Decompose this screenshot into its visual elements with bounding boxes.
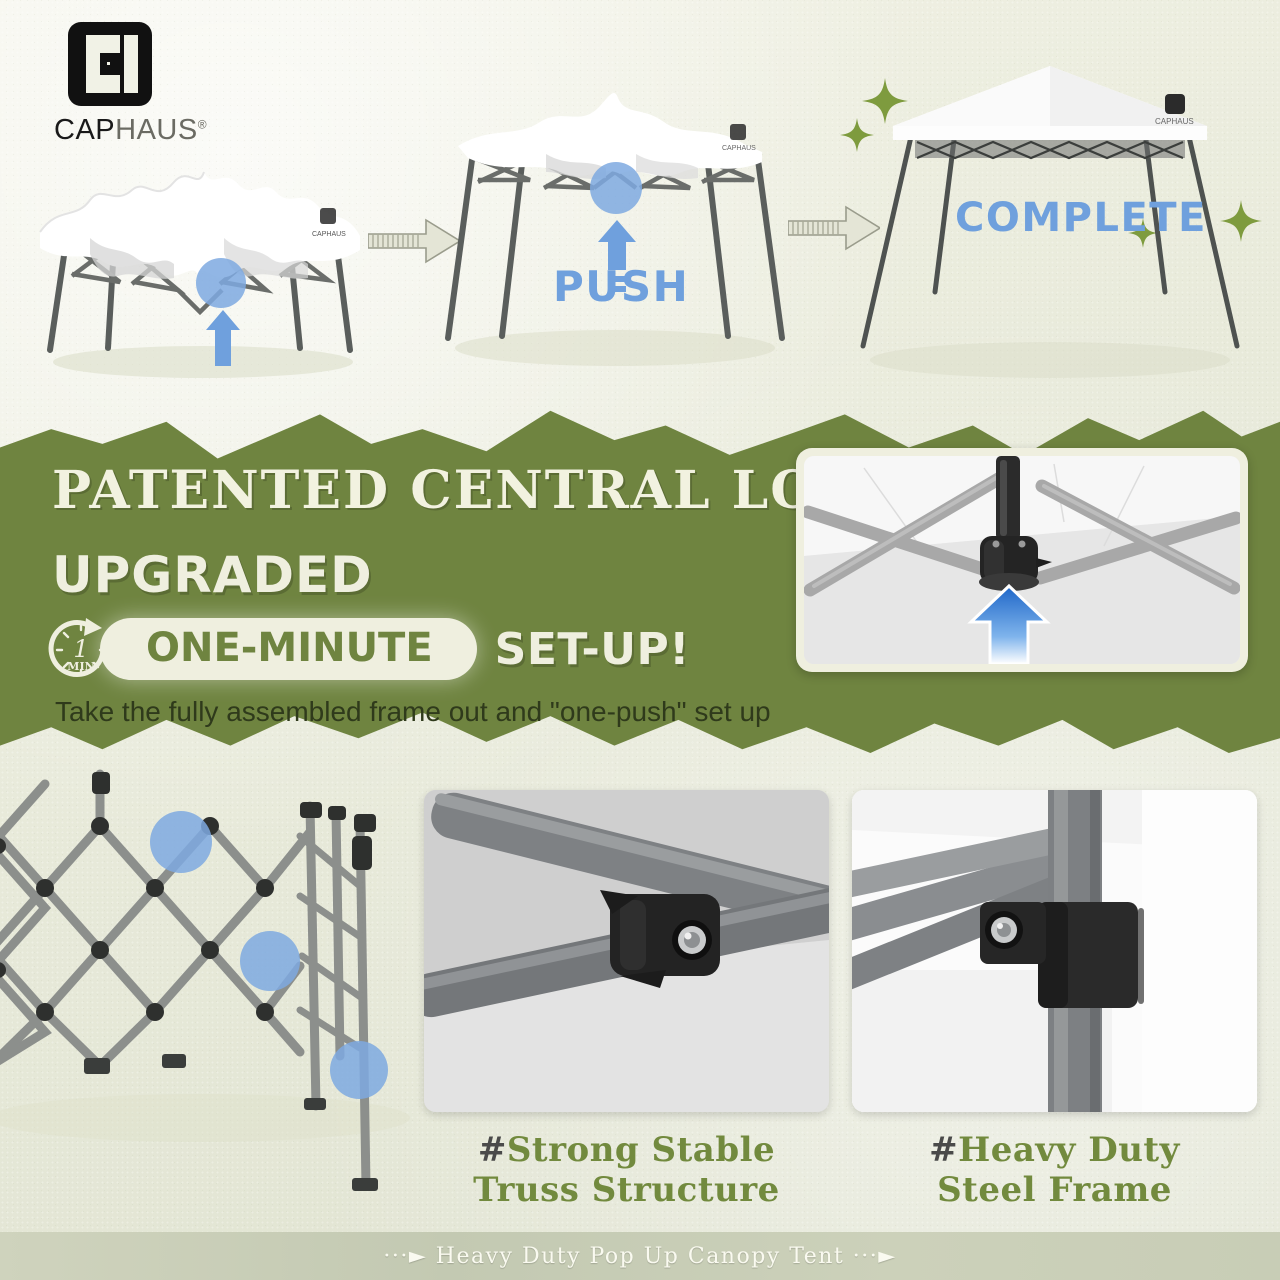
blue-up-arrow-icon [206, 310, 240, 366]
svg-text:CAPHAUS: CAPHAUS [312, 231, 346, 238]
brand-name-part2: HAUS [115, 114, 198, 146]
footer-text: ···► Heavy Duty Pop Up Canopy Tent ···► [383, 1244, 896, 1269]
infographic-page: CAPHAUS® [0, 0, 1280, 1280]
banner-upgraded-label: UPGRADED [52, 546, 373, 604]
clock-number: 1 [73, 635, 88, 663]
svg-text:CAPHAUS: CAPHAUS [722, 145, 756, 152]
feature-caption-steel: #Heavy Duty Steel Frame [852, 1130, 1257, 1210]
banner-subnote: Take the fully assembled frame out and "… [55, 696, 771, 728]
joint-highlight [150, 811, 212, 873]
brand-name-part1: CAP [54, 114, 115, 146]
step-folded-image: CAPHAUS [28, 150, 368, 380]
registered-mark: ® [198, 117, 207, 131]
banner-headline: PATENTED CENTRAL LOCK [52, 460, 908, 521]
joint-highlight [330, 1041, 388, 1099]
central-lock-photo-card [796, 448, 1248, 672]
top-sequence-section: CAPHAUS® [0, 0, 1280, 410]
hash-symbol: # [929, 1130, 958, 1170]
one-minute-row: 1 MIN ONE-MINUTE SET-UP! [46, 614, 690, 684]
one-minute-pill: ONE-MINUTE [100, 618, 477, 680]
clock-unit: MIN [67, 660, 94, 673]
steel-frame-photo [852, 790, 1257, 1112]
step-push-image: CAPHAUS [430, 80, 800, 370]
caphaus-logo-icon [68, 22, 152, 106]
push-label: PUSH [553, 262, 689, 311]
brand-name: CAPHAUS® [54, 114, 244, 147]
truss-frame-diagram [0, 766, 410, 1216]
central-lock-photo [804, 456, 1240, 664]
feature-caption-line1: Heavy Duty [958, 1130, 1180, 1170]
footer-bar: ···► Heavy Duty Pop Up Canopy Tent ···► [0, 1232, 1280, 1280]
svg-text:CAPHAUS: CAPHAUS [1155, 117, 1194, 126]
joint-highlight [240, 931, 300, 991]
setup-label: SET-UP! [495, 624, 690, 675]
feature-caption-line1: Strong Stable [507, 1130, 775, 1170]
brand-logo: CAPHAUS® [54, 22, 244, 147]
feature-caption-line2: Steel Frame [937, 1170, 1172, 1210]
complete-label: COMPLETE [955, 195, 1207, 241]
center-lock-highlight [196, 258, 246, 308]
one-minute-clock-icon: 1 MIN [46, 614, 116, 684]
center-lock-highlight [590, 162, 642, 214]
hash-symbol: # [478, 1130, 507, 1170]
bottom-features-section: #Strong Stable Truss Structure #Heavy Du… [0, 756, 1280, 1280]
feature-caption-line2: Truss Structure [473, 1170, 780, 1210]
feature-caption-truss: #Strong Stable Truss Structure [424, 1130, 829, 1210]
one-minute-pill-text: ONE-MINUTE [146, 625, 433, 671]
truss-joint-photo [424, 790, 829, 1112]
